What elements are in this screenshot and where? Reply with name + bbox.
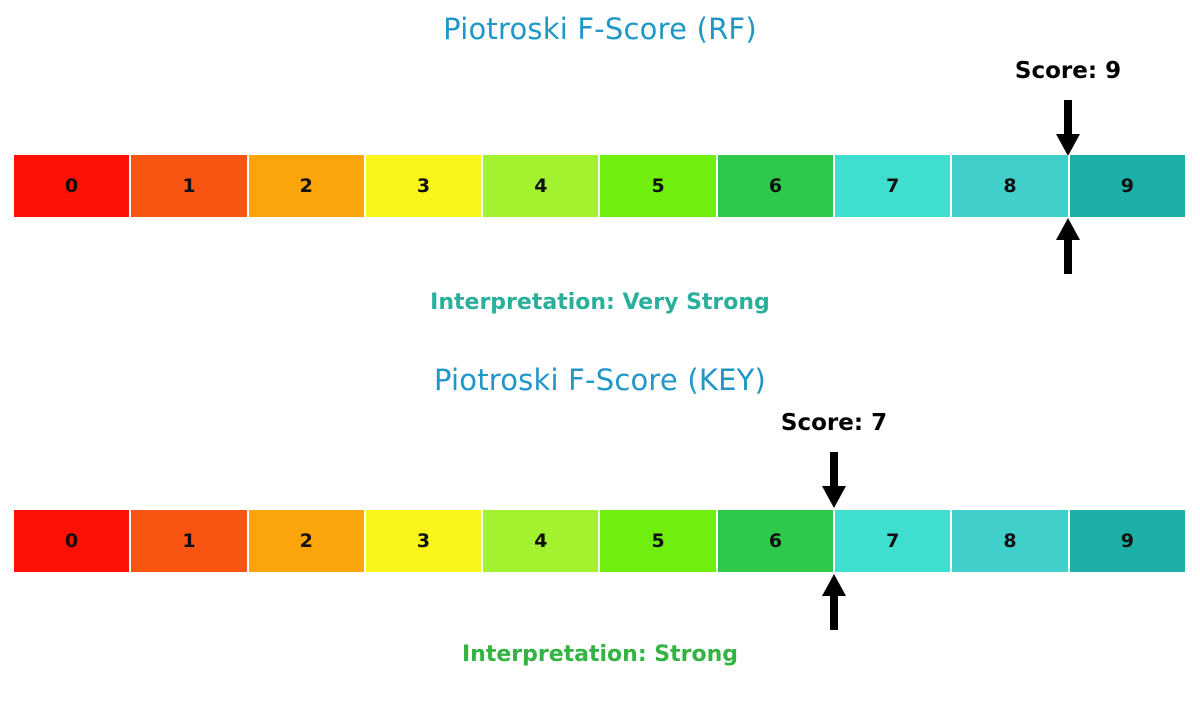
score-segment-label: 2 <box>300 532 313 551</box>
score-segment-5[interactable]: 5 <box>599 510 716 572</box>
score-segment-2[interactable]: 2 <box>248 510 365 572</box>
arrow-down-icon-rf <box>1053 100 1083 156</box>
score-segment-label: 2 <box>300 177 313 196</box>
score-segment-2[interactable]: 2 <box>248 155 365 217</box>
score-segment-label: 4 <box>534 177 547 196</box>
score-segment-7[interactable]: 7 <box>834 155 951 217</box>
score-segment-7[interactable]: 7 <box>834 510 951 572</box>
score-segment-6[interactable]: 6 <box>717 510 834 572</box>
score-label-rf: Score: 9 <box>1015 58 1121 84</box>
chart-title-key: Piotroski F-Score (KEY) <box>0 363 1200 397</box>
score-segment-8[interactable]: 8 <box>951 155 1068 217</box>
score-segment-1[interactable]: 1 <box>130 155 247 217</box>
fscore-panel-rf: Piotroski F-Score (RF) Score: 9 0 1 2 3 … <box>0 0 1200 351</box>
score-segment-label: 7 <box>886 532 899 551</box>
score-bar-key: 0 1 2 3 4 5 6 7 8 9 <box>14 510 1185 572</box>
score-segment-4[interactable]: 4 <box>482 510 599 572</box>
score-bar-rf: 0 1 2 3 4 5 6 7 8 9 <box>14 155 1185 217</box>
score-segment-label: 6 <box>769 532 782 551</box>
score-segment-5[interactable]: 5 <box>599 155 716 217</box>
score-segment-8[interactable]: 8 <box>951 510 1068 572</box>
score-label-key: Score: 7 <box>781 410 887 436</box>
score-segment-6[interactable]: 6 <box>717 155 834 217</box>
score-segment-label: 5 <box>652 532 665 551</box>
score-segment-label: 7 <box>886 177 899 196</box>
score-segment-label: 9 <box>1121 532 1134 551</box>
score-segment-label: 1 <box>182 532 195 551</box>
arrow-up-icon-rf <box>1053 218 1083 274</box>
interpretation-key: Interpretation: Strong <box>0 642 1200 667</box>
score-segment-label: 5 <box>652 177 665 196</box>
chart-title-rf: Piotroski F-Score (RF) <box>0 12 1200 46</box>
score-segment-1[interactable]: 1 <box>130 510 247 572</box>
score-segment-9[interactable]: 9 <box>1069 510 1185 572</box>
score-segment-label: 8 <box>1003 532 1016 551</box>
score-segment-9[interactable]: 9 <box>1069 155 1185 217</box>
score-segment-0[interactable]: 0 <box>14 510 130 572</box>
score-segment-label: 9 <box>1121 177 1134 196</box>
arrow-up-icon-key <box>819 574 849 630</box>
score-segment-label: 4 <box>534 532 547 551</box>
arrow-down-icon-key <box>819 452 849 508</box>
score-segment-4[interactable]: 4 <box>482 155 599 217</box>
score-segment-label: 0 <box>65 177 78 196</box>
score-segment-label: 1 <box>182 177 195 196</box>
score-segment-3[interactable]: 3 <box>365 155 482 217</box>
score-segment-label: 6 <box>769 177 782 196</box>
score-segment-label: 3 <box>417 177 430 196</box>
score-segment-label: 0 <box>65 532 78 551</box>
score-segment-3[interactable]: 3 <box>365 510 482 572</box>
interpretation-rf: Interpretation: Very Strong <box>0 290 1200 315</box>
score-segment-0[interactable]: 0 <box>14 155 130 217</box>
score-segment-label: 3 <box>417 532 430 551</box>
score-segment-label: 8 <box>1003 177 1016 196</box>
